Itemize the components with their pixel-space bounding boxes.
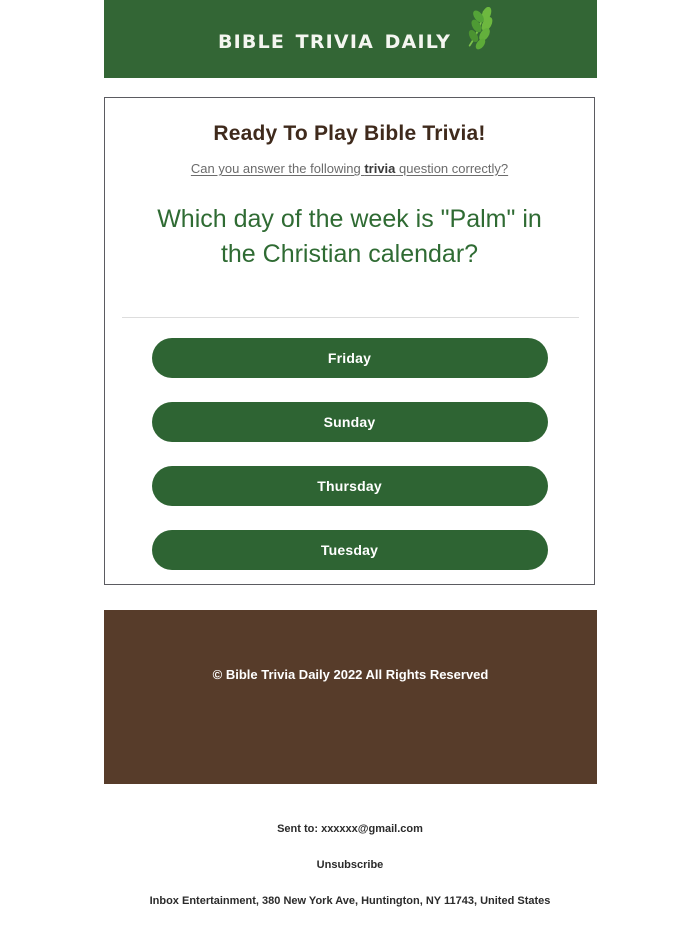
answer-button-3[interactable]: Thursday — [152, 466, 548, 506]
answer-list: Friday Sunday Thursday Tuesday — [105, 338, 594, 570]
trivia-question: Which day of the week is "Palm" in the C… — [105, 176, 594, 271]
answer-button-4[interactable]: Tuesday — [152, 530, 548, 570]
email-body: Bible Trivia Daily Read — [0, 0, 700, 938]
answer-button-2[interactable]: Sunday — [152, 402, 548, 442]
sender-address: Inbox Entertainment, 380 New York Ave, H… — [0, 871, 700, 907]
brand-logo-text: Bible Trivia Daily — [218, 26, 451, 53]
card-subtitle-before: Can you answer the following — [191, 161, 364, 176]
legal-block: Sent to: xxxxxx@gmail.com Unsubscribe In… — [0, 818, 700, 907]
olive-branch-leaf-icon — [453, 7, 495, 56]
card-divider — [122, 317, 579, 318]
trivia-card: Ready To Play Bible Trivia! Can you answ… — [104, 97, 595, 585]
unsubscribe-link[interactable]: Unsubscribe — [0, 835, 700, 871]
email-header: Bible Trivia Daily — [104, 0, 597, 78]
sent-to-text: Sent to: xxxxxx@gmail.com — [0, 818, 700, 835]
card-subtitle-after: question correctly? — [395, 161, 508, 176]
copyright-text: © Bible Trivia Daily 2022 All Rights Res… — [104, 610, 597, 682]
card-title: Ready To Play Bible Trivia! — [105, 98, 594, 146]
card-subtitle: Can you answer the following trivia ques… — [105, 146, 594, 176]
email-footer: © Bible Trivia Daily 2022 All Rights Res… — [104, 610, 597, 784]
answer-button-1[interactable]: Friday — [152, 338, 548, 378]
card-subtitle-bold: trivia — [364, 161, 395, 176]
brand-logo: Bible Trivia Daily — [218, 23, 495, 56]
